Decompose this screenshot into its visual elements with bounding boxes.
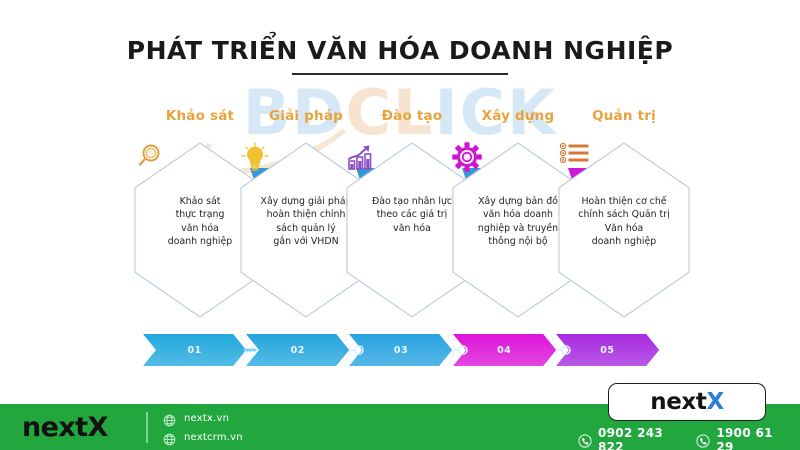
logo-badge: nextX: [608, 383, 766, 421]
footer-link-list: nextx.vnnextcrm.vn: [163, 409, 243, 447]
step-05[interactable]: Quản trịHoàn thiện cơ chếchính sách Quản…: [558, 108, 690, 124]
footer-logo: nextX: [22, 412, 108, 443]
globe-icon: [163, 412, 176, 425]
footer-phone[interactable]: 1900 61 29: [696, 426, 780, 450]
footer-phone-list: 0902 243 8221900 61 29: [578, 426, 800, 450]
logo-badge-accent: X: [706, 389, 723, 415]
footer-phone[interactable]: 0902 243 822: [578, 426, 676, 450]
logo-badge-text: nextX: [650, 389, 724, 415]
footer-phone-label: 0902 243 822: [598, 426, 676, 450]
step-number-bar: 0102030405: [143, 334, 659, 366]
logo-badge-main: next: [650, 389, 706, 415]
step-text-line: doanh nghiệp: [566, 235, 682, 248]
step-number-label: 04: [497, 345, 511, 356]
segment-joint-icon: [444, 334, 470, 366]
step-list: Khảo sátKhảo sátthực trạngvăn hóadoanh n…: [0, 0, 800, 340]
step-number-label: 01: [187, 345, 201, 356]
step-text-line: Văn hóa: [566, 222, 682, 235]
segment-joint-icon: [237, 334, 263, 366]
footer-link[interactable]: nextcrm.vn: [163, 428, 243, 447]
infographic-canvas: BD CL ICK PHÁT TRIỂN VĂN HÓA DOANH NGHIỆ…: [0, 0, 800, 450]
phone-icon: [578, 433, 592, 447]
step-label-05: Quản trị: [558, 108, 690, 124]
footer-link[interactable]: nextx.vn: [163, 409, 243, 428]
step-text-line: Hoàn thiện cơ chế: [566, 195, 682, 208]
phone-icon: [696, 433, 710, 447]
globe-icon: [163, 431, 176, 444]
step-number-label: 03: [394, 345, 408, 356]
segment-joint-icon: [340, 334, 366, 366]
step-number-label: 02: [291, 345, 305, 356]
footer-phone-label: 1900 61 29: [716, 426, 780, 450]
footer-link-label: nextx.vn: [184, 413, 229, 424]
step-hexagon[interactable]: Hoàn thiện cơ chếchính sách Quản trịVăn …: [558, 142, 690, 318]
step-number-label: 05: [600, 345, 614, 356]
segment-joint-icon: [547, 334, 573, 366]
step-number-segment-01[interactable]: 01: [143, 334, 246, 366]
footer-link-label: nextcrm.vn: [184, 432, 243, 443]
footer-divider: [146, 412, 148, 443]
step-text-line: chính sách Quản trị: [566, 208, 682, 221]
step-description: Hoàn thiện cơ chếchính sách Quản trịVăn …: [566, 195, 682, 249]
